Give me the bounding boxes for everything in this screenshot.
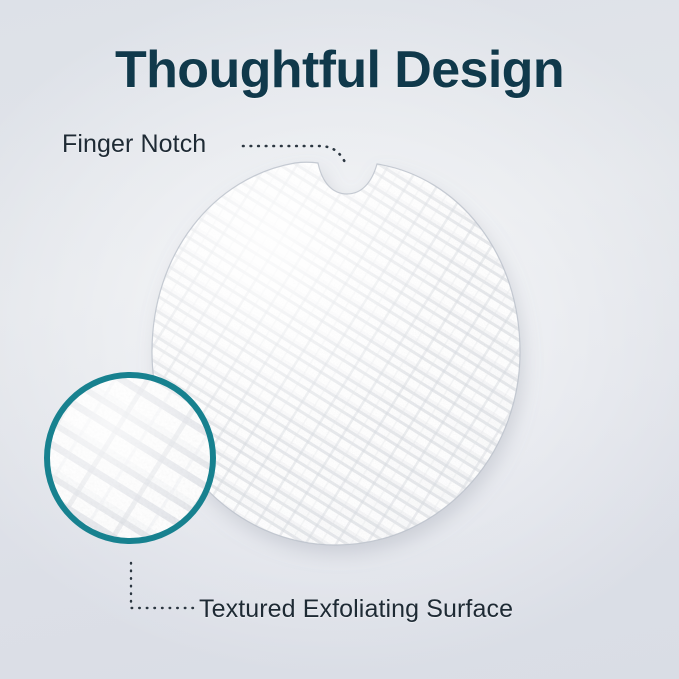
- product-infographic: Thoughtful Design Finger Notch Textured …: [0, 0, 679, 679]
- callout-label-textured-surface: Textured Exfoliating Surface: [199, 594, 513, 624]
- page-title: Thoughtful Design: [0, 42, 679, 98]
- text-overlay: Thoughtful Design Finger Notch Textured …: [0, 0, 679, 679]
- callout-label-finger-notch: Finger Notch: [62, 129, 206, 159]
